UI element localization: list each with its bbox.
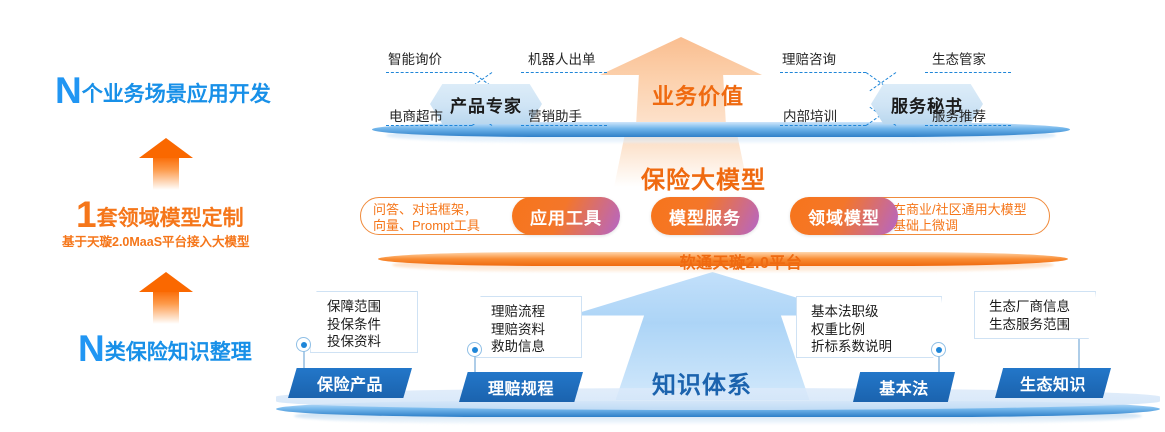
connector-line <box>386 72 472 73</box>
card-line-3: 折标系数说明 <box>811 338 931 356</box>
connector-line <box>386 125 472 126</box>
knowledge-card-insurance-products: 保障范围 投保条件 投保资料 <box>310 291 418 353</box>
pill-model-services[interactable]: 模型服务 <box>651 197 759 235</box>
note-line-1: 在商业/社区通用大模型 <box>893 202 1039 218</box>
card-anchor-dot-icon <box>467 342 482 357</box>
scenario-internal-training: 内部培训 <box>783 105 837 125</box>
hub-product-expert[interactable]: 产品专家 <box>430 84 542 124</box>
connector-line <box>925 72 1011 73</box>
connector-line <box>521 72 607 73</box>
scenario-smart-quote: 智能询价 <box>388 48 442 68</box>
knowledge-card-claims-procedure: 理赔流程 理赔资料 救助信息 <box>474 296 582 358</box>
rail-label-scenarios: N个业务场景应用开发 <box>55 72 271 109</box>
card-line-1: 保障范围 <box>327 298 407 316</box>
scenario-ecosystem-butler: 生态管家 <box>932 48 986 68</box>
section-title-insurance-llm: 保险大模型 <box>641 160 841 195</box>
card-line-3: 投保资料 <box>327 333 407 351</box>
knowledge-tag-insurance-products[interactable]: 保险产品 <box>288 368 412 398</box>
business-value-label: 业务价值 <box>652 79 744 111</box>
pill-application-tools[interactable]: 应用工具 <box>512 197 620 235</box>
up-arrow-shaft <box>153 290 179 324</box>
rail-label-knowledge-number: N <box>78 328 105 369</box>
rail-label-model: 1套领域模型定制 <box>76 196 244 233</box>
platform-label: 软通天璇2.0平台 <box>636 249 846 273</box>
card-line-2: 理赔资料 <box>491 321 571 339</box>
card-line-2: 权重比例 <box>811 321 931 339</box>
knowledge-tag-claims-procedure[interactable]: 理赔规程 <box>459 372 583 402</box>
scenario-marketing-assistant: 营销助手 <box>528 105 582 125</box>
rail-label-model-subtitle: 基于天璇2.0MaaS平台接入大模型 <box>62 231 250 250</box>
knowledge-card-ecosystem: 生态厂商信息 生态服务范围 <box>974 291 1096 339</box>
rail-label-model-number: 1 <box>76 194 97 235</box>
scenario-robot-policy: 机器人出单 <box>528 48 596 68</box>
card-line-2: 生态服务范围 <box>989 316 1085 334</box>
up-arrow-icon-upper <box>139 138 193 190</box>
card-stem <box>1078 339 1080 371</box>
note-line-2: 基础上微调 <box>893 218 1039 234</box>
up-arrow-shaft <box>153 156 179 190</box>
card-line-1: 理赔流程 <box>491 303 571 321</box>
card-line-3: 救助信息 <box>491 338 571 356</box>
section-title-knowledge-system: 知识体系 <box>652 365 782 400</box>
scenario-claims-consult: 理赔咨询 <box>782 48 836 68</box>
knowledge-card-basic-law: 基本法职级 权重比例 折标系数说明 <box>796 296 942 358</box>
knowledge-tag-ecosystem[interactable]: 生态知识 <box>995 368 1111 398</box>
up-arrow-icon-lower <box>139 272 193 324</box>
connector-line <box>925 125 1011 126</box>
rail-label-scenarios-text: 个业务场景应用开发 <box>82 83 271 106</box>
up-arrow-head <box>139 138 193 158</box>
up-arrow-head <box>139 272 193 292</box>
card-line-1: 生态厂商信息 <box>989 298 1085 316</box>
knowledge-tag-basic-law[interactable]: 基本法 <box>853 372 955 402</box>
rail-label-model-text: 套领域模型定制 <box>97 207 244 230</box>
rail-label-knowledge: N类保险知识整理 <box>78 330 252 367</box>
scenario-ecommerce-market: 电商超市 <box>389 105 443 125</box>
connector-line <box>780 72 866 73</box>
scenario-service-recommend: 服务推荐 <box>932 105 986 125</box>
card-anchor-dot-icon <box>296 337 311 352</box>
infographic-canvas: N个业务场景应用开发 1套领域模型定制 基于天璇2.0MaaS平台接入大模型 N… <box>0 0 1165 432</box>
card-anchor-dot-icon <box>931 342 946 357</box>
connector-line <box>780 125 866 126</box>
rail-label-knowledge-text: 类保险知识整理 <box>105 341 252 364</box>
card-line-1: 基本法职级 <box>811 303 931 321</box>
rail-label-scenarios-number: N <box>55 70 82 111</box>
connector-line <box>521 125 607 126</box>
card-line-2: 投保条件 <box>327 316 407 334</box>
pill-domain-model[interactable]: 领域模型 <box>790 197 898 235</box>
